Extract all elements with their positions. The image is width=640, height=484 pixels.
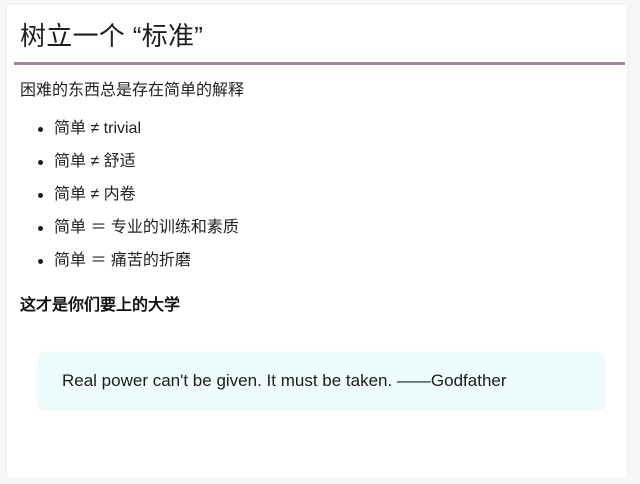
list-item: 简单 ≠ 内卷 — [20, 179, 580, 212]
emphasis-text: 这才是你们要上的大学 — [20, 294, 180, 318]
list-item: 简单 ＝ 专业的训练和素质 — [20, 212, 580, 245]
list-item: 简单 ＝ 痛苦的折磨 — [20, 245, 580, 278]
list-item-label: 简单 ≠ trivial — [54, 120, 141, 137]
list-item: 简单 ≠ 舒适 — [20, 146, 580, 179]
list-item-label: 简单 ＝ 痛苦的折磨 — [54, 252, 191, 269]
bullet-dot-icon — [38, 226, 43, 231]
list-item-label: 简单 ＝ 专业的训练和素质 — [54, 219, 239, 236]
quote-callout: Real power can't be given. It must be ta… — [38, 352, 604, 409]
title-divider — [14, 62, 625, 65]
bullet-dot-icon — [38, 259, 43, 264]
bullet-dot-icon — [38, 193, 43, 198]
quote-text: Real power can't be given. It must be ta… — [62, 352, 507, 409]
intro-paragraph: 困难的东西总是存在简单的解释 — [20, 79, 244, 103]
bullet-list: 简单 ≠ trivial 简单 ≠ 舒适 简单 ≠ 内卷 简单 ＝ 专业的训练和… — [20, 113, 580, 278]
list-item-label: 简单 ≠ 舒适 — [54, 153, 136, 170]
page-title: 树立一个 “标准” — [20, 18, 203, 54]
slide-card: 树立一个 “标准” 困难的东西总是存在简单的解释 简单 ≠ trivial 简单… — [7, 5, 627, 478]
list-item-label: 简单 ≠ 内卷 — [54, 186, 136, 203]
bullet-dot-icon — [38, 160, 43, 165]
list-item: 简单 ≠ trivial — [20, 113, 580, 146]
bullet-dot-icon — [38, 127, 43, 132]
